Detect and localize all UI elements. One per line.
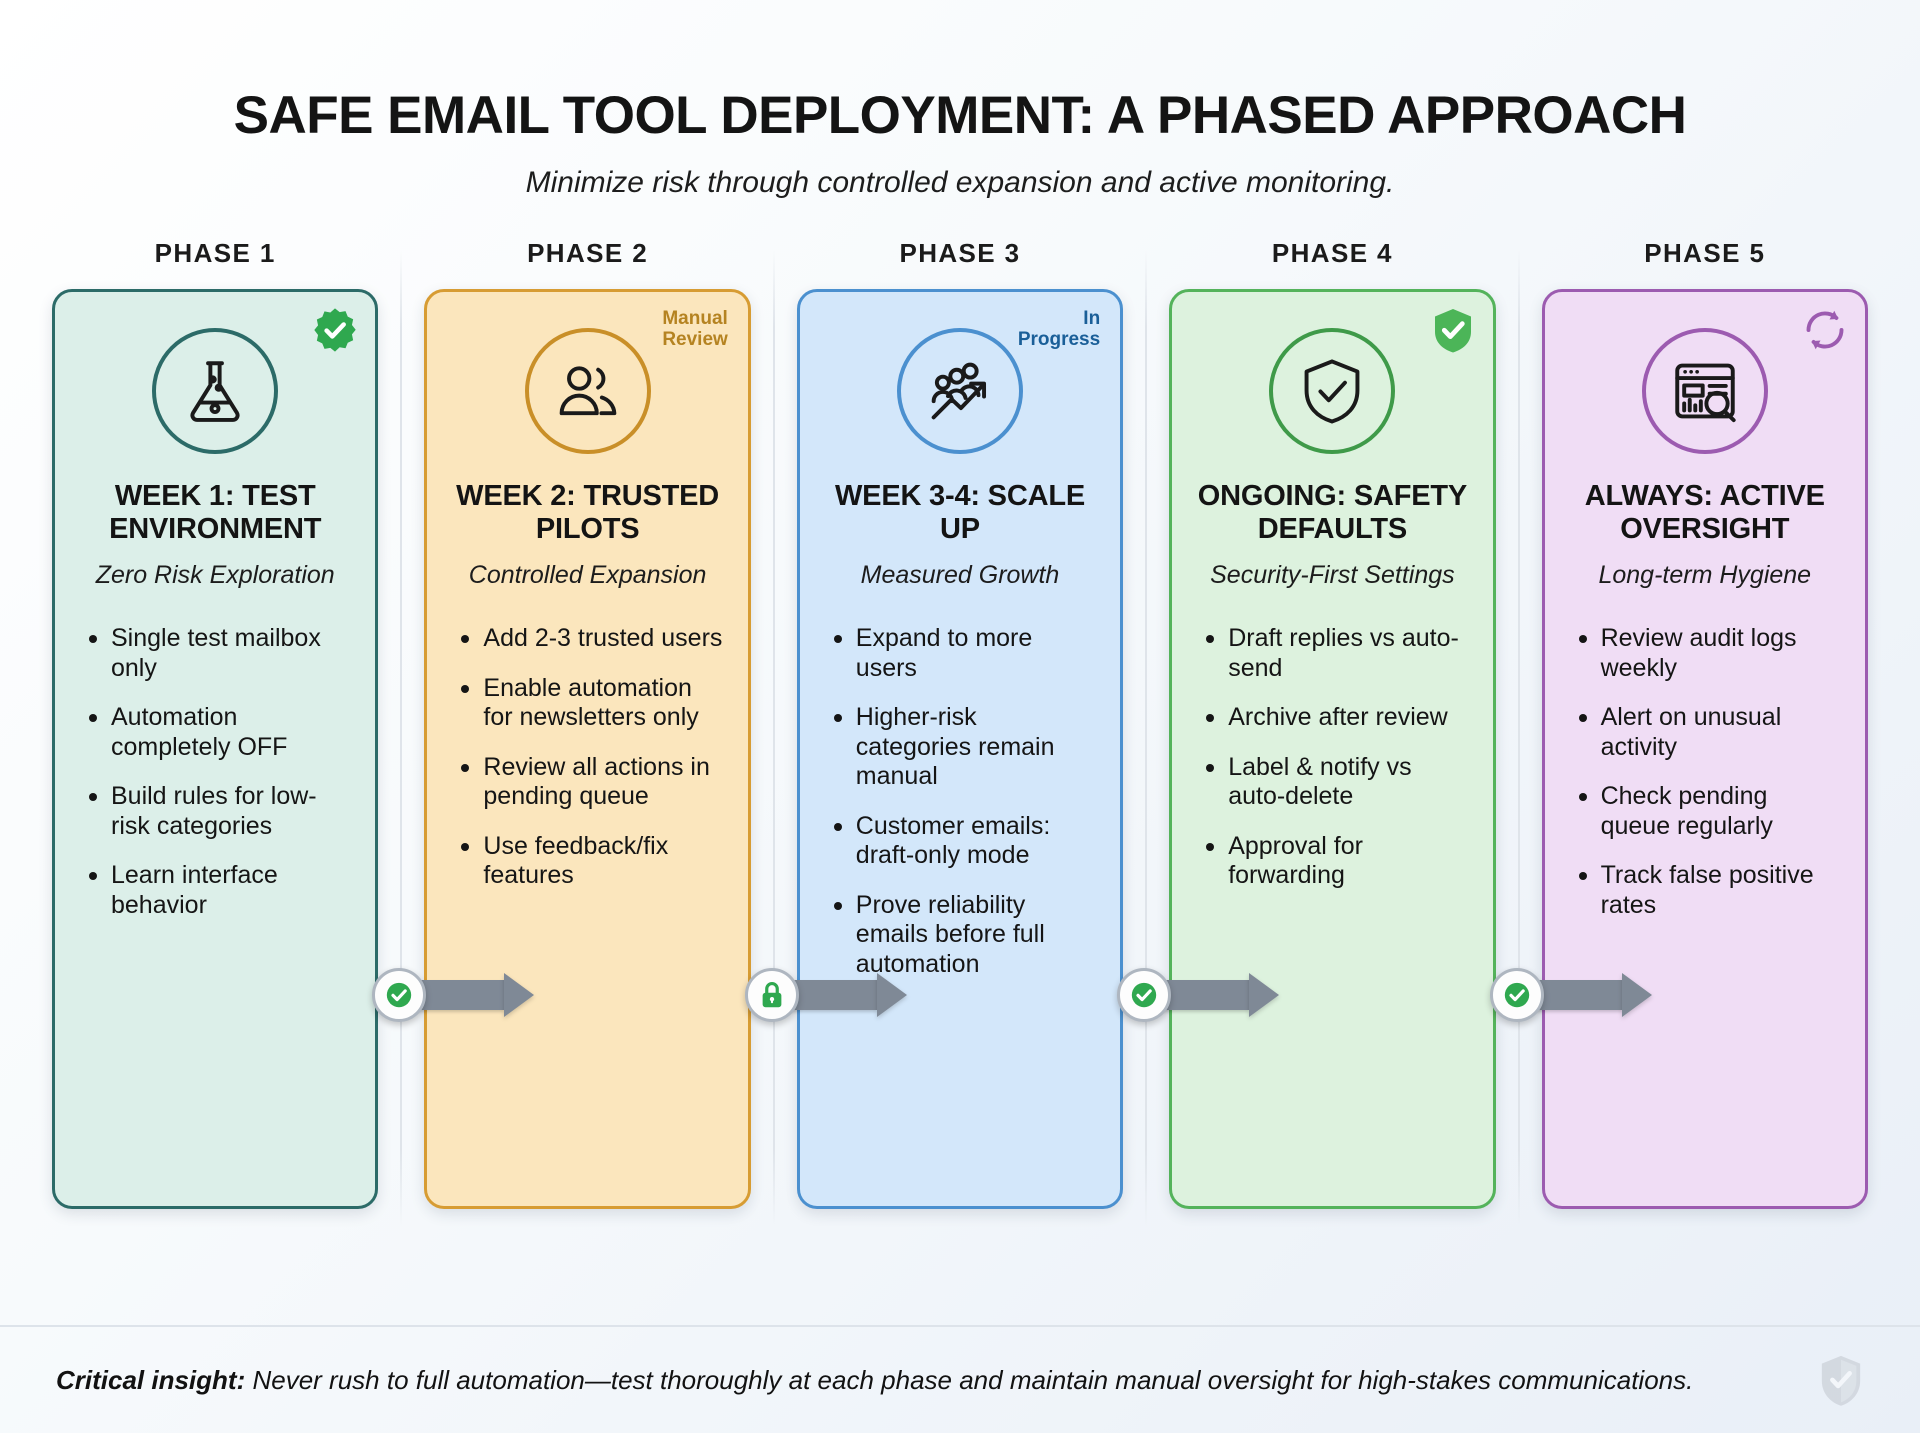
bullet-item: Enable automation for newsletters only (455, 674, 725, 733)
status-badge: InProgress (1018, 308, 1100, 351)
people-icon (525, 328, 651, 454)
check-circle-icon[interactable] (1117, 968, 1171, 1022)
bullet-item: Build rules for low-risk categories (83, 782, 353, 841)
bullet-item: Higher-risk categories remain manual (828, 703, 1098, 792)
growth-users-icon (897, 328, 1023, 454)
phase-column-2: PHASE 2 ManualReview WEEK 2: TRUSTED PIL… (424, 238, 750, 1209)
phase-column-1: PHASE 1 WEEK 1: TEST ENVIRONMENT Zero Ri… (52, 238, 378, 1209)
footer-bar: Critical insight: Never rush to full aut… (0, 1325, 1920, 1433)
column-divider (1145, 250, 1147, 1227)
phase-title: ONGOING: SAFETY DEFAULTS (1194, 480, 1470, 545)
check-circle-icon[interactable] (372, 968, 426, 1022)
status-badge: ManualReview (662, 308, 727, 351)
shield-check-badge-icon (1429, 306, 1477, 354)
bullet-item: Single test mailbox only (83, 624, 353, 683)
phases-board: PHASE 1 WEEK 1: TEST ENVIRONMENT Zero Ri… (52, 238, 1868, 1209)
phase-bullet-list: Draft replies vs auto-sendArchive after … (1194, 624, 1470, 891)
phase-card[interactable]: InProgress WEEK 3-4: SCALE UP Measured G… (797, 289, 1123, 1209)
phase-subtitle: Controlled Expansion (449, 561, 725, 590)
lock-icon[interactable] (745, 968, 799, 1022)
column-divider (773, 250, 775, 1227)
bullet-item: Alert on unusual activity (1573, 703, 1843, 762)
phase-column-3: PHASE 3 InProgress WEEK 3-4: SCALE UP Me… (797, 238, 1123, 1209)
bullet-item: Expand to more users (828, 624, 1098, 683)
dashboard-search-icon (1642, 328, 1768, 454)
footer-insight-lead: Critical insight: (56, 1365, 245, 1395)
bullet-item: Archive after review (1200, 703, 1470, 733)
phase-bullet-list: Review audit logs weeklyAlert on unusual… (1567, 624, 1843, 920)
bullet-item: Customer emails: draft-only mode (828, 812, 1098, 871)
shield-logo-icon (1818, 1354, 1864, 1406)
bullet-item: Prove reliability emails before full aut… (828, 891, 1098, 980)
bullet-item: Label & notify vs auto-delete (1200, 753, 1470, 812)
phase-label: PHASE 2 (424, 238, 750, 269)
page-subtitle: Minimize risk through controlled expansi… (0, 166, 1920, 200)
phase-title: ALWAYS: ACTIVE OVERSIGHT (1567, 480, 1843, 545)
phase-subtitle: Zero Risk Exploration (77, 561, 353, 590)
column-divider (400, 250, 402, 1227)
shield-check-icon (1269, 328, 1395, 454)
phase-column-4: PHASE 4 ONGOING: SAFETY DEFAULTS Securit… (1169, 238, 1495, 1209)
phase-label: PHASE 1 (52, 238, 378, 269)
refresh-cycle-icon (1801, 306, 1849, 354)
phase-title: WEEK 2: TRUSTED PILOTS (449, 480, 725, 545)
phase-subtitle: Long-term Hygiene (1567, 561, 1843, 590)
bullet-item: Add 2-3 trusted users (455, 624, 725, 654)
seal-check-icon (311, 306, 359, 354)
phase-card[interactable]: ONGOING: SAFETY DEFAULTS Security-First … (1169, 289, 1495, 1209)
phase-column-5: PHASE 5 ALWAYS: ACTIVE OVERSIGHT Long-te… (1542, 238, 1868, 1209)
phase-subtitle: Security-First Settings (1194, 561, 1470, 590)
bullet-item: Approval for forwarding (1200, 832, 1470, 891)
check-circle-icon[interactable] (1490, 968, 1544, 1022)
phase-card[interactable]: ManualReview WEEK 2: TRUSTED PILOTS Cont… (424, 289, 750, 1209)
bullet-item: Automation completely OFF (83, 703, 353, 762)
footer-insight-text: Never rush to full automation—test thoro… (245, 1365, 1693, 1395)
page-title: SAFE EMAIL TOOL DEPLOYMENT: A PHASED APP… (0, 88, 1920, 144)
bullet-item: Check pending queue regularly (1573, 782, 1843, 841)
bullet-item: Learn interface behavior (83, 861, 353, 920)
phase-title: WEEK 3-4: SCALE UP (822, 480, 1098, 545)
phase-bullet-list: Add 2-3 trusted usersEnable automation f… (449, 624, 725, 891)
phase-card[interactable]: WEEK 1: TEST ENVIRONMENT Zero Risk Explo… (52, 289, 378, 1209)
bullet-item: Draft replies vs auto-send (1200, 624, 1470, 683)
phase-label: PHASE 4 (1169, 238, 1495, 269)
phase-bullet-list: Single test mailbox onlyAutomation compl… (77, 624, 353, 920)
phase-label: PHASE 3 (797, 238, 1123, 269)
bullet-item: Track false positive rates (1573, 861, 1843, 920)
phase-label: PHASE 5 (1542, 238, 1868, 269)
column-divider (1518, 250, 1520, 1227)
phase-title: WEEK 1: TEST ENVIRONMENT (77, 480, 353, 545)
bullet-item: Review all actions in pending queue (455, 753, 725, 812)
phase-subtitle: Measured Growth (822, 561, 1098, 590)
footer-insight: Critical insight: Never rush to full aut… (56, 1365, 1818, 1396)
bullet-item: Use feedback/fix features (455, 832, 725, 891)
page-header: SAFE EMAIL TOOL DEPLOYMENT: A PHASED APP… (0, 0, 1920, 200)
phase-card[interactable]: ALWAYS: ACTIVE OVERSIGHT Long-term Hygie… (1542, 289, 1868, 1209)
flask-icon (152, 328, 278, 454)
phase-bullet-list: Expand to more usersHigher-risk categori… (822, 624, 1098, 979)
bullet-item: Review audit logs weekly (1573, 624, 1843, 683)
